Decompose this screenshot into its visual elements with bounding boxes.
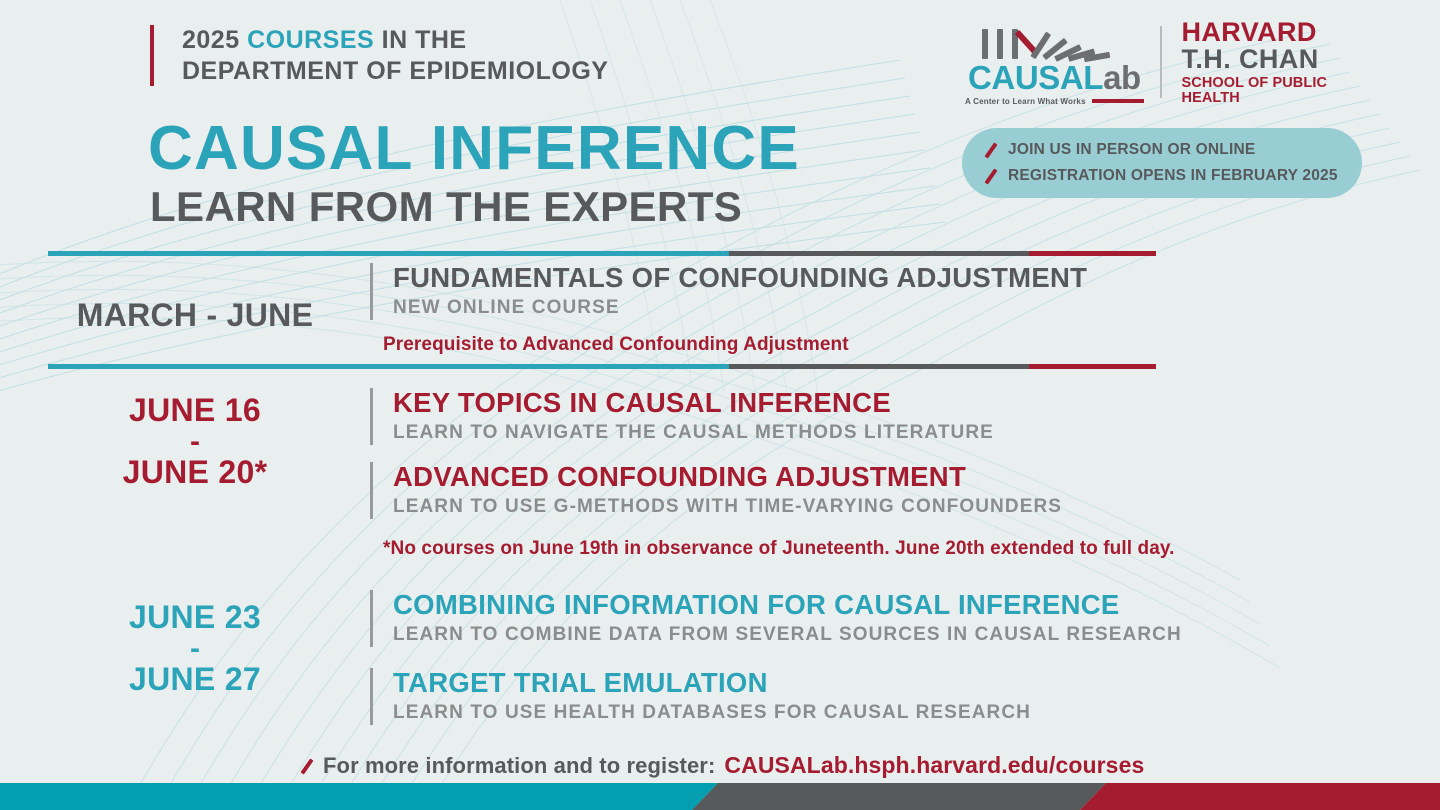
- bottom-bar-gray: [692, 783, 1106, 810]
- harvard-line-3: SCHOOL OF PUBLIC HEALTH: [1182, 76, 1366, 106]
- badge-item: REGISTRATION OPENS IN FEBRUARY 2025: [984, 167, 1362, 185]
- section-divider-middle: [48, 364, 1156, 369]
- course-entry: FUNDAMENTALS OF CONFOUNDING ADJUSTMENT N…: [370, 263, 1087, 320]
- badge-item: JOIN US IN PERSON OR ONLINE: [984, 141, 1362, 159]
- causalab-logo: CAUSALab A Center to Learn What Works: [965, 19, 1144, 106]
- course-subtitle: LEARN TO COMBINE DATA FROM SEVERAL SOURC…: [393, 624, 1182, 647]
- date-line: JUNE 16: [30, 393, 360, 428]
- logo-divider: [1160, 26, 1162, 98]
- eyebrow-heading: 2025 COURSES IN THE DEPARTMENT OF EPIDEM…: [150, 25, 608, 86]
- eyebrow-year: 2025: [182, 26, 247, 54]
- course-title: COMBINING INFORMATION FOR CAUSAL INFEREN…: [393, 590, 1182, 621]
- badge-item-label: JOIN US IN PERSON OR ONLINE: [1008, 141, 1255, 159]
- footer-url[interactable]: CAUSALab.hsph.harvard.edu/courses: [724, 752, 1144, 779]
- causalab-tagline-rule: [1092, 99, 1144, 103]
- logo-block: CAUSALab A Center to Learn What Works HA…: [965, 14, 1365, 110]
- eyebrow-line-1: 2025 COURSES IN THE: [182, 25, 608, 56]
- divider-segment-gray: [729, 251, 1028, 256]
- info-badge: JOIN US IN PERSON OR ONLINE REGISTRATION…: [962, 128, 1362, 198]
- badge-item-label: REGISTRATION OPENS IN FEBRUARY 2025: [1008, 167, 1338, 185]
- page-subtitle: LEARN FROM THE EXPERTS: [150, 186, 742, 228]
- causalab-wordmark: CAUSALab: [968, 61, 1141, 94]
- divider-segment-gray: [729, 364, 1028, 369]
- course-subtitle: LEARN TO USE HEALTH DATABASES FOR CAUSAL…: [393, 702, 1031, 725]
- date-dash: -: [30, 428, 360, 455]
- date-line: MARCH - JUNE: [30, 298, 360, 333]
- course-subtitle: NEW ONLINE COURSE: [393, 297, 1087, 320]
- eyebrow-in-the: IN THE: [374, 26, 466, 54]
- course-note: Prerequisite to Advanced Confounding Adj…: [383, 334, 849, 356]
- divider-segment-teal: [48, 251, 729, 256]
- course-title: ADVANCED CONFOUNDING ADJUSTMENT: [393, 462, 1062, 493]
- date-line: JUNE 27: [30, 662, 360, 697]
- course-title: FUNDAMENTALS OF CONFOUNDING ADJUSTMENT: [393, 263, 1087, 294]
- bottom-bar-crimson: [1080, 783, 1440, 810]
- domino-slash-icon: [300, 759, 314, 773]
- course-subtitle: LEARN TO USE G-METHODS WITH TIME-VARYING…: [393, 496, 1062, 519]
- causalab-tagline-row: A Center to Learn What Works: [965, 97, 1144, 106]
- date-dash: -: [30, 635, 360, 662]
- eyebrow-line-2: DEPARTMENT OF EPIDEMIOLOGY: [182, 56, 608, 87]
- page-title: CAUSAL INFERENCE: [148, 118, 800, 180]
- bottom-bar-teal: [0, 783, 718, 810]
- course-title: TARGET TRIAL EMULATION: [393, 668, 1031, 699]
- course-entry: KEY TOPICS IN CAUSAL INFERENCE LEARN TO …: [370, 388, 994, 445]
- domino-slash-icon: [984, 169, 998, 183]
- date-line: JUNE 23: [30, 600, 360, 635]
- harvard-line-2: T.H. CHAN: [1182, 46, 1366, 74]
- causalab-tagline: A Center to Learn What Works: [965, 97, 1086, 106]
- course-entry: ADVANCED CONFOUNDING ADJUSTMENT LEARN TO…: [370, 462, 1062, 519]
- causalab-word-lab: ab: [1103, 59, 1141, 96]
- date-label-group-3: JUNE 23 - JUNE 27: [30, 600, 360, 696]
- date-label-group-1: MARCH - JUNE: [30, 298, 360, 333]
- course-note: *No courses on June 19th in observance o…: [383, 538, 1175, 560]
- date-label-group-2: JUNE 16 - JUNE 20*: [30, 393, 360, 489]
- domino-slash-icon: [984, 143, 998, 157]
- course-entry: TARGET TRIAL EMULATION LEARN TO USE HEAL…: [370, 668, 1031, 725]
- footer-label: For more information and to register:: [323, 753, 715, 779]
- divider-segment-crimson: [1029, 251, 1156, 256]
- bottom-color-bar: [0, 783, 1440, 810]
- footer-register-line: For more information and to register: CA…: [300, 752, 1144, 779]
- date-line: JUNE 20*: [30, 455, 360, 490]
- divider-segment-crimson: [1029, 364, 1156, 369]
- section-divider-top: [48, 251, 1156, 256]
- poster-canvas: 2025 COURSES IN THE DEPARTMENT OF EPIDEM…: [0, 0, 1440, 810]
- divider-segment-teal: [48, 364, 729, 369]
- eyebrow-courses-word: COURSES: [247, 26, 374, 54]
- harvard-logo: HARVARD T.H. CHAN SCHOOL OF PUBLIC HEALT…: [1182, 19, 1366, 106]
- causalab-word-causal: CAUSAL: [968, 59, 1103, 96]
- falling-dominoes-icon: [980, 19, 1128, 63]
- course-title: KEY TOPICS IN CAUSAL INFERENCE: [393, 388, 994, 419]
- course-subtitle: LEARN TO NAVIGATE THE CAUSAL METHODS LIT…: [393, 422, 994, 445]
- course-entry: COMBINING INFORMATION FOR CAUSAL INFEREN…: [370, 590, 1182, 647]
- harvard-line-1: HARVARD: [1182, 19, 1366, 47]
